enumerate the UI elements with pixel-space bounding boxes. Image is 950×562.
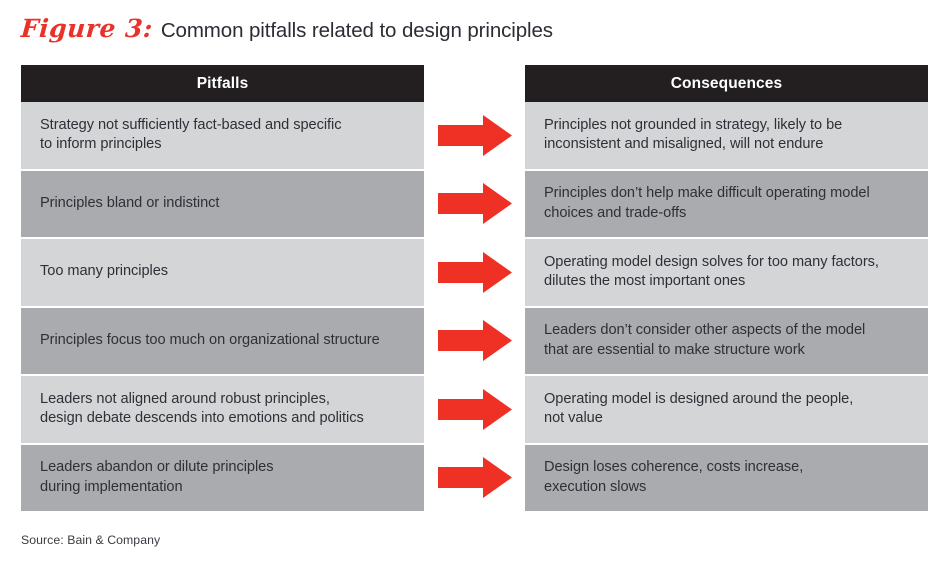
source-note: Source: Bain & Company	[21, 533, 160, 547]
pitfalls-consequences-diagram: Pitfalls Strategy not sufficiently fact-…	[21, 65, 928, 511]
arrow-cell	[424, 376, 525, 443]
right-arrow-icon	[438, 183, 512, 224]
consequences-row-list: Principles not grounded in strategy, lik…	[525, 102, 928, 511]
table-row: Principles don’t help make difficult ope…	[525, 171, 928, 238]
right-arrow-icon	[438, 252, 512, 293]
figure-number-label: Figure 3:	[20, 14, 154, 43]
arrow-cell	[424, 239, 525, 306]
consequence-text: Principles not grounded in strategy, lik…	[544, 116, 842, 155]
page-title: Figure 3: Common pitfalls related to des…	[21, 14, 553, 48]
table-row: Principles focus too much on organizatio…	[21, 308, 424, 375]
table-row: Principles not grounded in strategy, lik…	[525, 102, 928, 169]
arrow-cell	[424, 445, 525, 512]
arrow-column	[424, 102, 525, 511]
consequence-text: Operating model design solves for too ma…	[544, 253, 879, 292]
pitfalls-column: Pitfalls Strategy not sufficiently fact-…	[21, 65, 424, 511]
arrow-cell	[424, 308, 525, 375]
pitfall-text: Principles bland or indistinct	[40, 194, 219, 214]
table-row: Operating model design solves for too ma…	[525, 239, 928, 306]
table-row: Design loses coherence, costs increase, …	[525, 445, 928, 512]
pitfalls-column-header: Pitfalls	[21, 65, 424, 102]
right-arrow-icon	[438, 457, 512, 498]
right-arrow-icon	[438, 389, 512, 430]
arrow-cell	[424, 102, 525, 169]
consequence-text: Principles don’t help make difficult ope…	[544, 184, 870, 223]
table-row: Too many principles	[21, 239, 424, 306]
consequence-text: Leaders don’t consider other aspects of …	[544, 321, 865, 360]
table-row: Leaders abandon or dilute principles dur…	[21, 445, 424, 512]
consequence-text: Operating model is designed around the p…	[544, 390, 853, 429]
pitfall-text: Leaders not aligned around robust princi…	[40, 390, 364, 429]
consequences-column-header: Consequences	[525, 65, 928, 102]
table-row: Operating model is designed around the p…	[525, 376, 928, 443]
table-row: Strategy not sufficiently fact-based and…	[21, 102, 424, 169]
table-row: Leaders don’t consider other aspects of …	[525, 308, 928, 375]
pitfall-text: Leaders abandon or dilute principles dur…	[40, 458, 273, 497]
figure-headline: Common pitfalls related to design princi…	[161, 19, 553, 43]
table-row: Leaders not aligned around robust princi…	[21, 376, 424, 443]
pitfall-text: Too many principles	[40, 262, 168, 282]
right-arrow-icon	[438, 115, 512, 156]
pitfall-text: Principles focus too much on organizatio…	[40, 331, 380, 351]
consequences-column: Consequences Principles not grounded in …	[525, 65, 928, 511]
consequence-text: Design loses coherence, costs increase, …	[544, 458, 803, 497]
pitfall-text: Strategy not sufficiently fact-based and…	[40, 116, 341, 155]
table-row: Principles bland or indistinct	[21, 171, 424, 238]
arrow-cell	[424, 171, 525, 238]
right-arrow-icon	[438, 320, 512, 361]
pitfalls-row-list: Strategy not sufficiently fact-based and…	[21, 102, 424, 511]
